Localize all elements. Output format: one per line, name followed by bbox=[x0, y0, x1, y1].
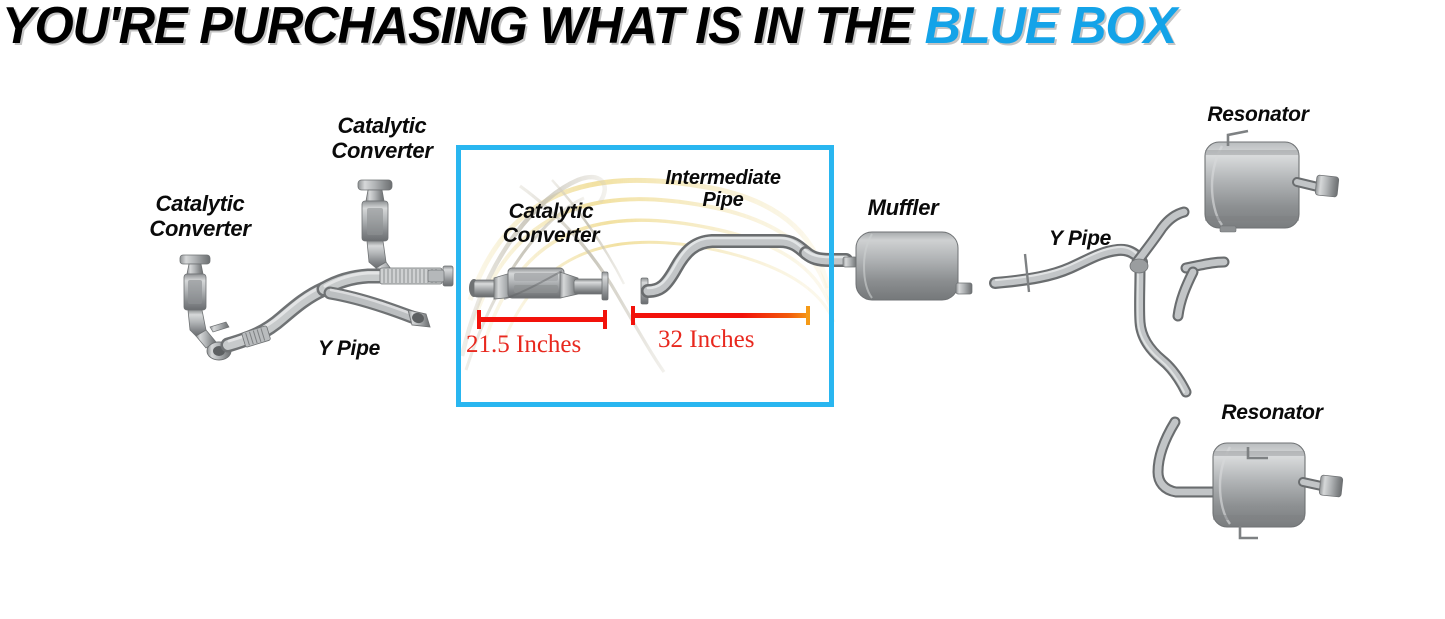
banner: YOU'RE PURCHASING WHAT IS IN THE BLUE BO… bbox=[0, 0, 1445, 56]
dimension-label-intermediate-pipe: 32 Inches bbox=[658, 326, 755, 354]
flex-bellows-lower bbox=[242, 326, 271, 348]
label-catalytic-converter-left: Catalytic Converter bbox=[120, 192, 280, 241]
label-resonator-top: Resonator bbox=[1178, 103, 1338, 127]
resonator-bottom-art bbox=[1158, 422, 1343, 538]
dimension-label-catalytic-converter: 21.5 Inches bbox=[466, 331, 581, 359]
exhaust-system-diagram: YOU'RE PURCHASING WHAT IS IN THE BLUE BO… bbox=[0, 0, 1445, 619]
label-resonator-bottom: Resonator bbox=[1192, 401, 1352, 425]
label-y-pipe-left: Y Pipe bbox=[294, 337, 404, 361]
label-catalytic-converter-boxed: Catalytic Converter bbox=[470, 200, 632, 247]
resonator-top-art bbox=[1178, 131, 1339, 316]
catalytic-converter-upper-art bbox=[358, 180, 396, 281]
label-catalytic-converter-upper: Catalytic Converter bbox=[302, 114, 462, 163]
label-y-pipe-right: Y Pipe bbox=[1030, 227, 1130, 251]
catalytic-converter-left-art bbox=[180, 255, 229, 348]
label-muffler: Muffler bbox=[848, 196, 958, 221]
label-intermediate-pipe: Intermediate Pipe bbox=[638, 167, 808, 212]
banner-text-blue: BLUE BOX bbox=[925, 0, 1176, 55]
page-title: YOU'RE PURCHASING WHAT IS IN THE BLUE BO… bbox=[2, 0, 1176, 54]
banner-text-black: YOU'RE PURCHASING WHAT IS IN THE bbox=[2, 0, 925, 55]
flex-bellows-upper bbox=[380, 268, 442, 284]
muffler-art bbox=[843, 232, 972, 300]
